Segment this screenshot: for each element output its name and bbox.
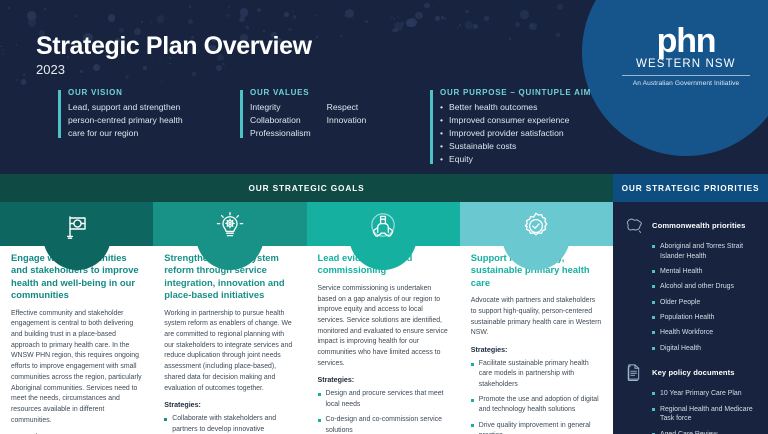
goal-icon-header	[153, 202, 306, 246]
purpose-item: Improved consumer experience	[440, 114, 610, 127]
sidebar-list-item: 10 Year Primary Care Plan	[652, 389, 758, 399]
strategies-label: Strategies:	[318, 376, 449, 384]
sidebar-list: Aboriginal and Torres Strait Islander He…	[623, 242, 758, 353]
values-heading: OUR VALUES	[250, 88, 415, 97]
goal-body: Engage with communities and stakeholders…	[0, 246, 153, 434]
goal-column-3: Lead evidence-based commissioningService…	[307, 202, 460, 434]
sidebar-list-item: Health Workforce	[652, 328, 758, 338]
page-title: Strategic Plan Overview	[36, 32, 312, 61]
goal-body: Lead evidence-based commissioningService…	[307, 246, 460, 434]
logo-divider	[622, 75, 750, 76]
sidebar-list-item: Digital Health	[652, 344, 758, 354]
goal-column-4: Support high-quality, sustainable primar…	[460, 202, 613, 434]
purpose-item: Sustainable costs	[440, 140, 610, 153]
goal-description: Service commissioning is undertaken base…	[318, 284, 449, 370]
flag-icon	[61, 210, 93, 242]
sidebar-list-item: Older People	[652, 298, 758, 308]
goal-column-1: Engage with communities and stakeholders…	[0, 202, 153, 434]
value-item: Respect	[327, 101, 367, 114]
goal-body: Strengthen health system reform through …	[153, 246, 306, 434]
strategies-list: Collaborate with stakeholders and partne…	[164, 414, 295, 434]
purpose-heading: OUR PURPOSE – QUINTUPLE AIM	[440, 88, 610, 97]
strategic-goals-band: OUR STRATEGIC GOALS	[0, 174, 613, 202]
sidebar-group-header: Key policy documents	[623, 361, 758, 385]
purpose-list: Better health outcomes Improved consumer…	[440, 101, 610, 166]
goal-column-2: Strengthen health system reform through …	[153, 202, 306, 434]
logo-wordmark: phn	[620, 26, 752, 57]
goal-body: Support high-quality, sustainable primar…	[460, 246, 613, 434]
goal-description: Effective community and stakeholder enga…	[11, 309, 142, 427]
phn-logo: phn WESTERN NSW An Australian Government…	[620, 26, 752, 87]
strategy-item: Collaborate with stakeholders and partne…	[164, 414, 295, 434]
strategy-item: Facilitate sustainable primary health ca…	[471, 359, 602, 390]
strategies-list: Design and procure services that meet lo…	[318, 389, 449, 434]
strategies-list: Facilitate sustainable primary health ca…	[471, 359, 602, 434]
sidebar-list-item: Aged Care Review	[652, 430, 758, 434]
value-item: Collaboration	[250, 114, 311, 127]
goal-icon-header	[460, 202, 613, 246]
australia-map-icon	[623, 214, 645, 238]
documents-icon	[623, 361, 645, 385]
goal-icon-header	[307, 202, 460, 246]
logo-tagline: An Australian Government Initiative	[620, 80, 752, 87]
quality-badge-icon	[520, 210, 552, 242]
values-column-1: Integrity Collaboration Professionalism	[250, 101, 311, 140]
purpose-item: Improved provider satisfaction	[440, 127, 610, 140]
strategic-goals-columns: Engage with communities and stakeholders…	[0, 202, 613, 434]
vision-text: Lead, support and strengthen person-cent…	[68, 101, 186, 140]
sidebar-group-heading: Commonwealth priorities	[652, 214, 745, 238]
section-bands: OUR STRATEGIC GOALS OUR STRATEGIC PRIORI…	[0, 174, 768, 202]
value-item: Integrity	[250, 101, 311, 114]
strategic-priorities-band: OUR STRATEGIC PRIORITIES	[613, 174, 768, 202]
strategies-label: Strategies:	[471, 346, 602, 354]
sidebar-list-item: Alcohol and other Drugs	[652, 282, 758, 292]
sidebar-list-item: Population Health	[652, 313, 758, 323]
sidebar-list-item: Mental Health	[652, 267, 758, 277]
vision-heading: OUR VISION	[68, 88, 186, 97]
vision-block: OUR VISION Lead, support and strengthen …	[58, 88, 186, 140]
lightbulb-gear-icon	[214, 210, 246, 242]
goal-description: Working in partnership to pursue health …	[164, 309, 295, 395]
strategic-priorities-sidebar: Commonwealth prioritiesAboriginal and To…	[613, 202, 768, 434]
strategy-item: Design and procure services that meet lo…	[318, 389, 449, 410]
goal-icon-header	[0, 202, 153, 246]
strategy-item: Drive quality improvement in general pra…	[471, 421, 602, 434]
strategies-label: Strategies:	[164, 401, 295, 409]
sidebar-group-header: Commonwealth priorities	[623, 214, 758, 238]
sidebar-group-heading: Key policy documents	[652, 361, 735, 385]
strategy-item: Promote the use and adoption of digital …	[471, 395, 602, 416]
strategic-priorities-label: OUR STRATEGIC PRIORITIES	[622, 183, 760, 193]
hands-teamwork-icon	[367, 210, 399, 242]
purpose-block: OUR PURPOSE – QUINTUPLE AIM Better healt…	[430, 88, 610, 166]
page-year: 2023	[36, 62, 65, 77]
logo-region: WESTERN NSW	[620, 58, 752, 70]
value-item: Innovation	[327, 114, 367, 127]
value-item: Professionalism	[250, 127, 311, 140]
strategic-plan-infographic: phn WESTERN NSW An Australian Government…	[0, 0, 768, 434]
purpose-item: Equity	[440, 153, 610, 166]
sidebar-list-item: Regional Health and Medicare Task force	[652, 405, 758, 425]
header-banner: phn WESTERN NSW An Australian Government…	[0, 0, 768, 174]
sidebar-list-item: Aboriginal and Torres Strait Islander He…	[652, 242, 758, 262]
goal-description: Advocate with partners and stakeholders …	[471, 296, 602, 339]
sidebar-list: 10 Year Primary Care PlanRegional Health…	[623, 389, 758, 434]
values-block: OUR VALUES Integrity Collaboration Profe…	[240, 88, 415, 140]
values-column-2: Respect Innovation	[327, 101, 367, 140]
purpose-item: Better health outcomes	[440, 101, 610, 114]
strategic-goals-label: OUR STRATEGIC GOALS	[248, 183, 364, 193]
strategy-item: Co-design and co-commission service solu…	[318, 415, 449, 434]
